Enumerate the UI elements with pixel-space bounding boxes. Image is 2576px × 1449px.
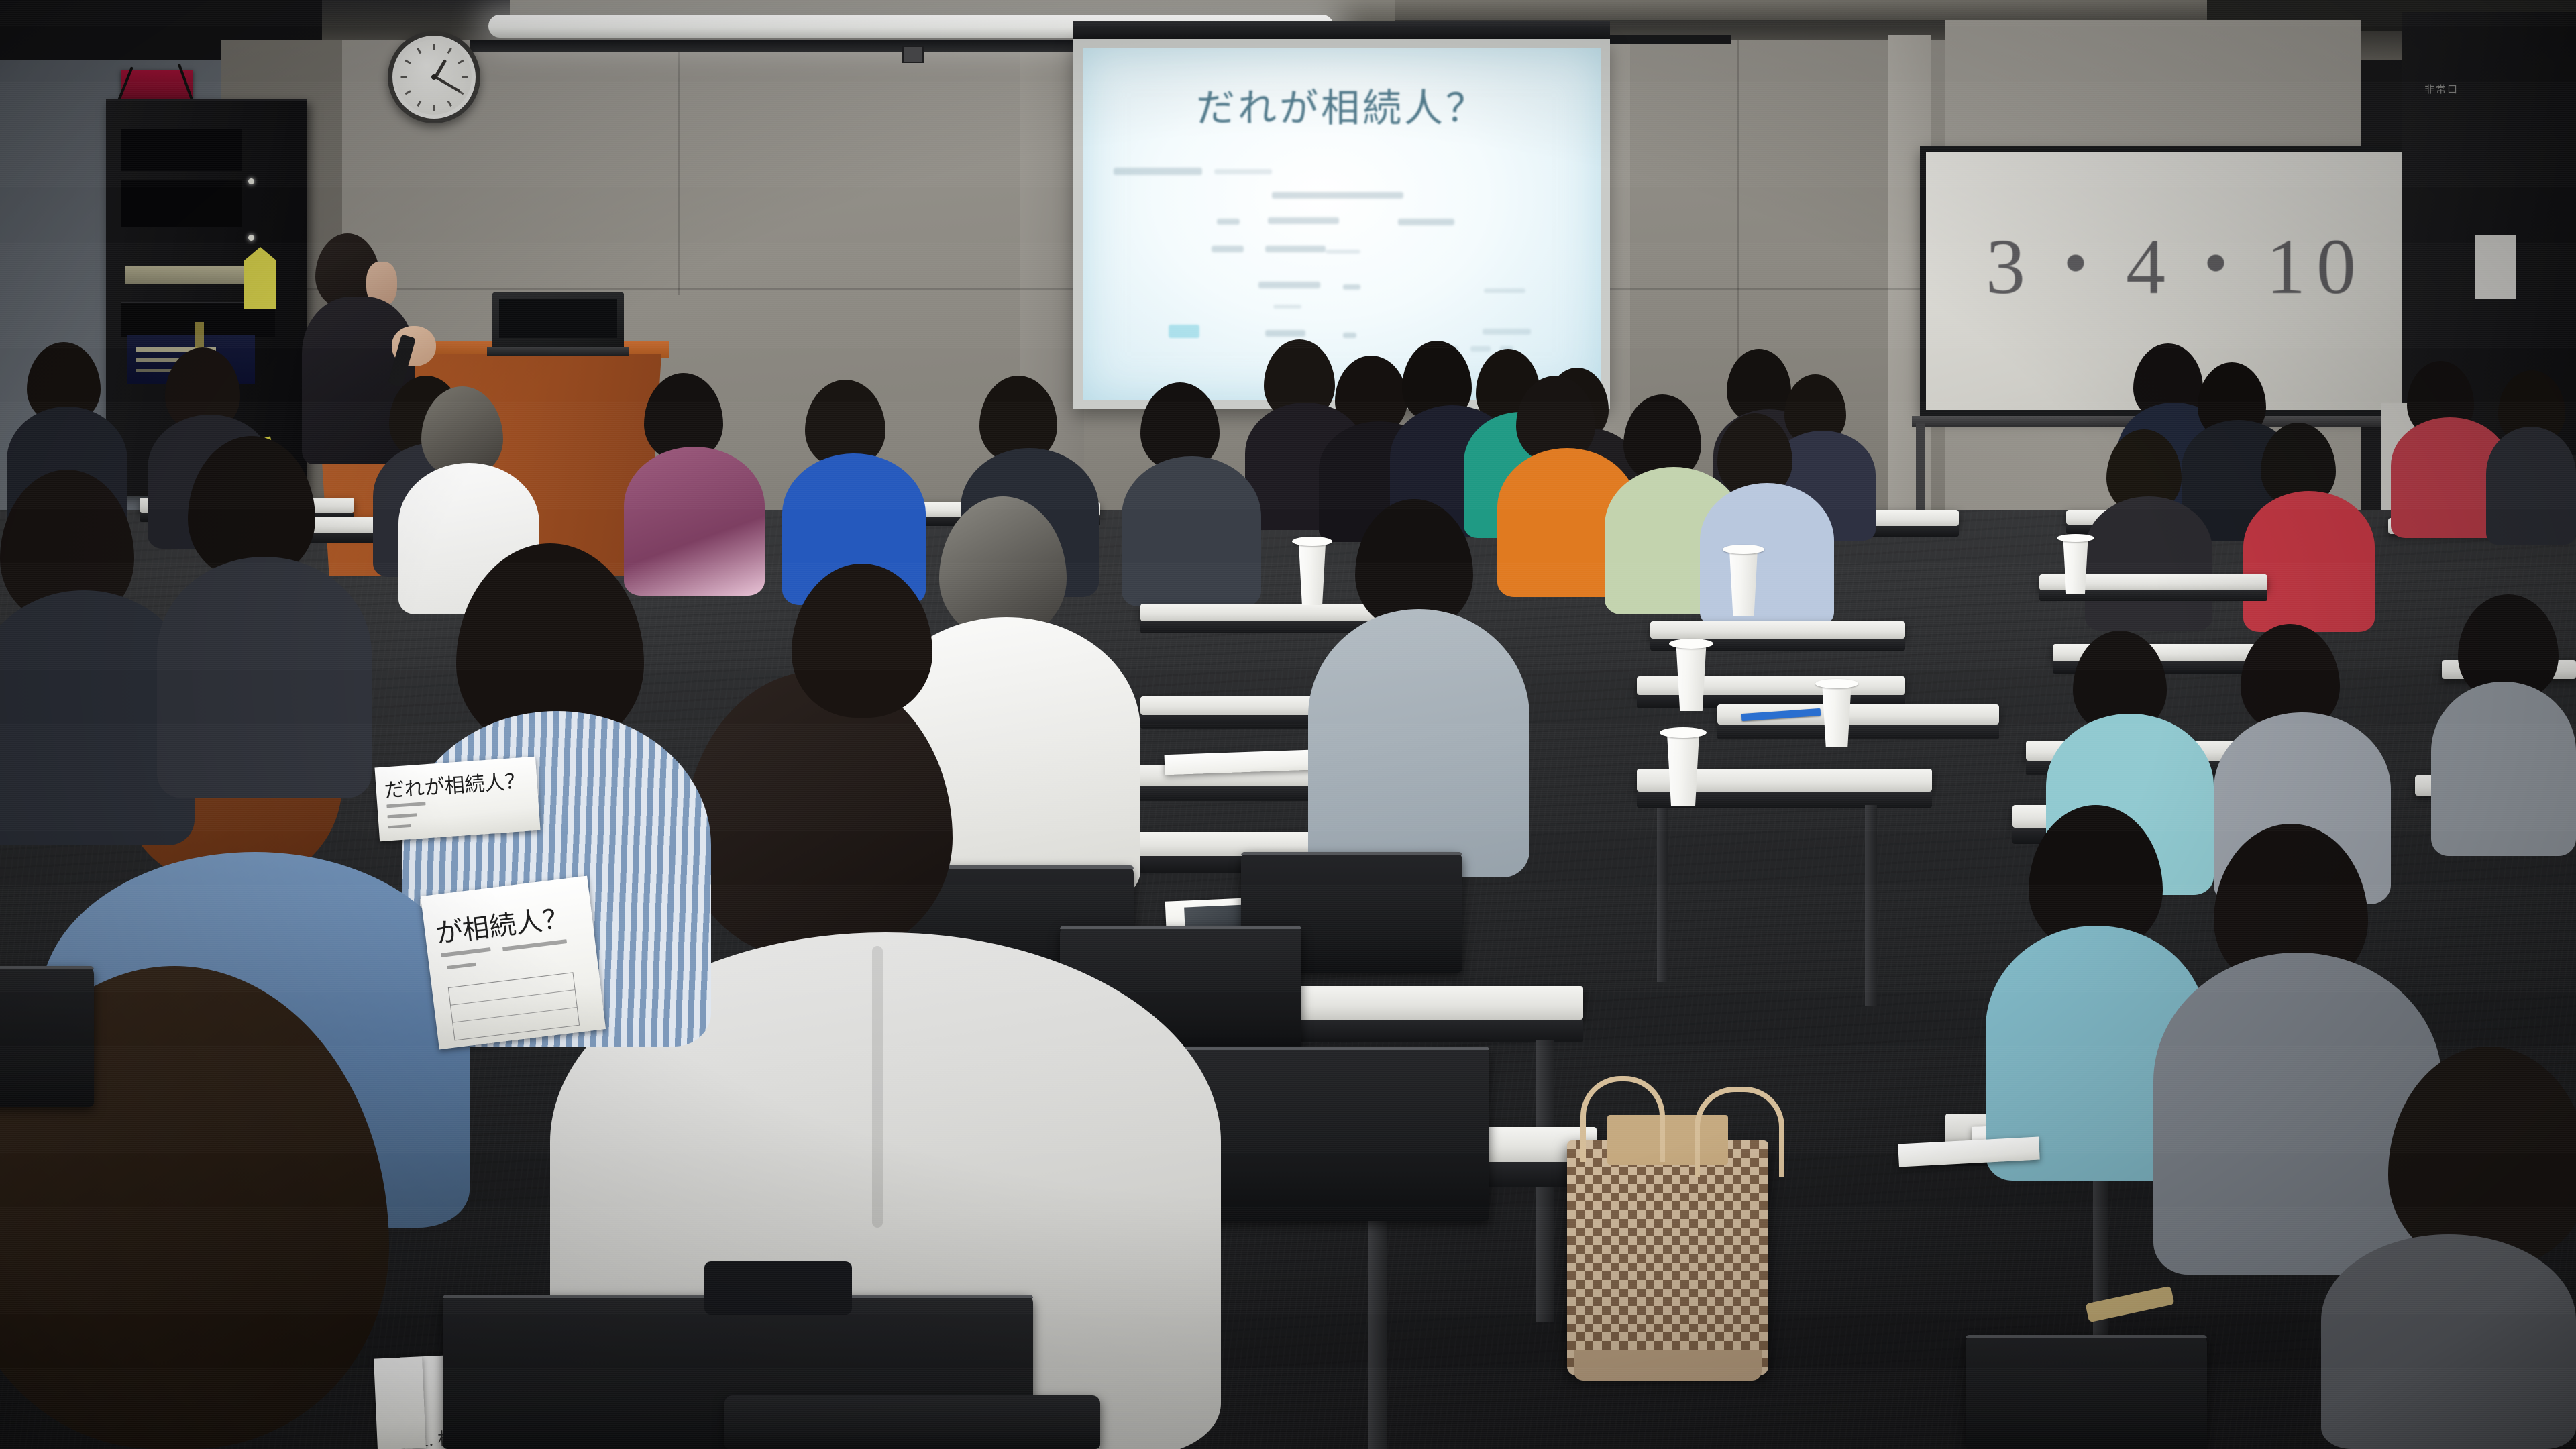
handout-foreground-edge: [374, 1356, 426, 1449]
shirt-seam: [872, 946, 883, 1228]
attendee-body-floral: [624, 447, 765, 596]
wall-notice: [2475, 235, 2516, 299]
laptop-base: [487, 347, 629, 356]
projection-screen: だれが相続人？: [1073, 39, 1610, 409]
desk-leg: [1368, 1185, 1387, 1449]
clock-center-pin: [431, 74, 437, 80]
desk-leg: [1657, 808, 1668, 982]
whiteboard-handwriting: 3・4・10: [1986, 201, 2367, 316]
paper-cup-lip: [2057, 534, 2094, 542]
screen-surface: だれが相続人？: [1083, 48, 1601, 400]
rail-clip: [902, 46, 924, 63]
clock-minute-hand: [433, 75, 460, 92]
chair-headrest: [704, 1261, 852, 1315]
slide-title: だれが相続人？: [1083, 76, 1601, 133]
attendee-body: [2153, 953, 2442, 1275]
attendee-body: [2431, 682, 2576, 856]
chair[interactable]: [0, 966, 94, 1107]
chair[interactable]: [1966, 1335, 2207, 1449]
desk: [1140, 604, 1382, 621]
laptop-screen: [499, 299, 617, 338]
attendee-body: [2486, 427, 2576, 545]
handout-held[interactable]: が相続人？: [421, 876, 606, 1050]
paper-cup-lip: [1815, 679, 1858, 688]
attendee-body: [1122, 456, 1261, 606]
desk-leg: [1865, 805, 1877, 1006]
chair[interactable]: [724, 1395, 1100, 1449]
paper-cup-lip: [1723, 545, 1764, 554]
desk: [1650, 621, 1905, 639]
attendee-body-gray: [1308, 609, 1529, 877]
desk-edge: [1717, 724, 1999, 739]
desk-edge: [1140, 621, 1382, 633]
exit-door-label: 非常口: [2424, 82, 2459, 96]
attendee-body-red: [2243, 491, 2375, 632]
ceiling-slab-right: [1395, 0, 2214, 20]
handout-title: だれが相続人？: [383, 764, 526, 804]
handout-on-desk[interactable]: だれが相続人？: [374, 757, 540, 841]
wall-clock: [388, 31, 480, 123]
desk: [1637, 676, 1905, 695]
attendee-body: [1700, 483, 1834, 627]
attendee-body: [157, 557, 372, 798]
paper-cup-lip: [1292, 537, 1332, 546]
attendee-body: [2321, 1234, 2576, 1449]
seminar-room-photo: だれが相続人？: [0, 0, 2576, 1449]
bag-handle-right: [1695, 1087, 1784, 1177]
wall-seam-vertical: [678, 40, 680, 295]
attendee-body: [2085, 496, 2212, 631]
bag-handle-left: [1580, 1076, 1665, 1162]
paper-cup-lip: [1669, 639, 1713, 649]
clock-face: [396, 40, 472, 115]
paper-cup-lip: [1660, 727, 1707, 738]
